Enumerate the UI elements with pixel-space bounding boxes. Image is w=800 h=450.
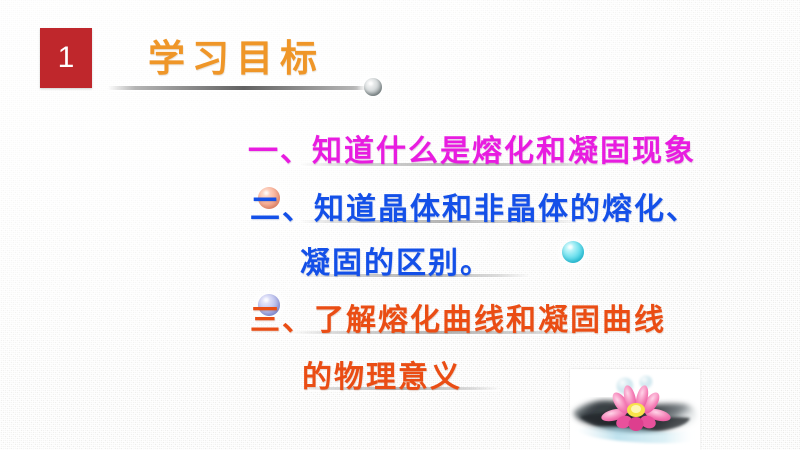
objective-line-3-continued: 的物理意义 bbox=[302, 352, 462, 396]
bead-sphere bbox=[364, 78, 382, 96]
bead-sphere bbox=[562, 241, 584, 263]
objective-line-1: 一、知道什么是熔化和凝固现象 bbox=[248, 126, 696, 170]
cyan-bead-icon bbox=[562, 241, 584, 263]
objective-line-2: 二、知道晶体和非晶体的熔化、 bbox=[250, 184, 698, 228]
slide-number-text: 1 bbox=[58, 43, 75, 73]
pearl-bead-icon bbox=[364, 78, 382, 96]
presentation-slide: 1 学习目标 一、知道什么是熔化和凝固现象 二、知道晶体和非晶体的熔化、 凝固的… bbox=[0, 0, 800, 450]
objective-line-2-continued: 凝固的区别。 bbox=[300, 238, 492, 282]
lotus-illustration bbox=[570, 369, 700, 450]
picture-caption: 水墨荷花 bbox=[0, 0, 1, 1]
slide-number-badge: 1 bbox=[40, 28, 92, 88]
lotus-ink-painting-image bbox=[570, 369, 700, 450]
page-title: 学习目标 bbox=[148, 28, 324, 82]
title-divider-rule bbox=[108, 86, 380, 90]
objective-line-3: 三、了解熔化曲线和凝固曲线 bbox=[250, 295, 666, 339]
